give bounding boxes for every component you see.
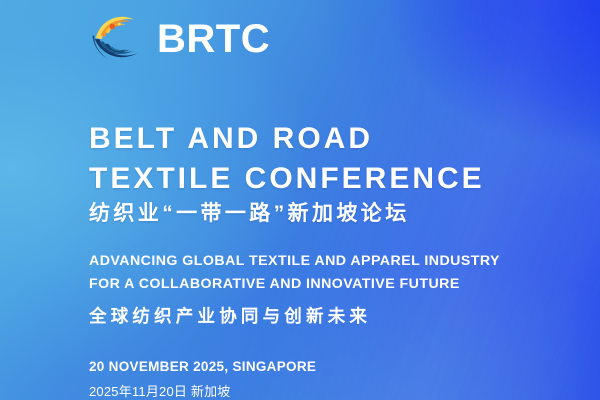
brand-wordmark: BRTC <box>157 19 270 59</box>
page-title: BELT AND ROAD TEXTILE CONFERENCE <box>89 119 485 199</box>
brand-lockup: BRTC <box>89 9 270 67</box>
tagline-chinese: 全球纺织产业协同与创新未来 <box>89 306 371 327</box>
page-title-chinese: 纺织业“一带一路”新加坡论坛 <box>89 201 410 226</box>
brtc-logo-icon <box>89 9 147 67</box>
conference-poster: BRTC BELT AND ROAD TEXTILE CONFERENCE 纺织… <box>0 0 600 400</box>
tagline-english: ADVANCING GLOBAL TEXTILE AND APPAREL IND… <box>89 250 500 296</box>
event-date-english: 20 NOVEMBER 2025, SINGAPORE <box>89 359 316 375</box>
event-date-chinese: 2025年11月20日 新加坡 <box>89 384 231 400</box>
poster-content: BRTC BELT AND ROAD TEXTILE CONFERENCE 纺织… <box>0 0 600 400</box>
